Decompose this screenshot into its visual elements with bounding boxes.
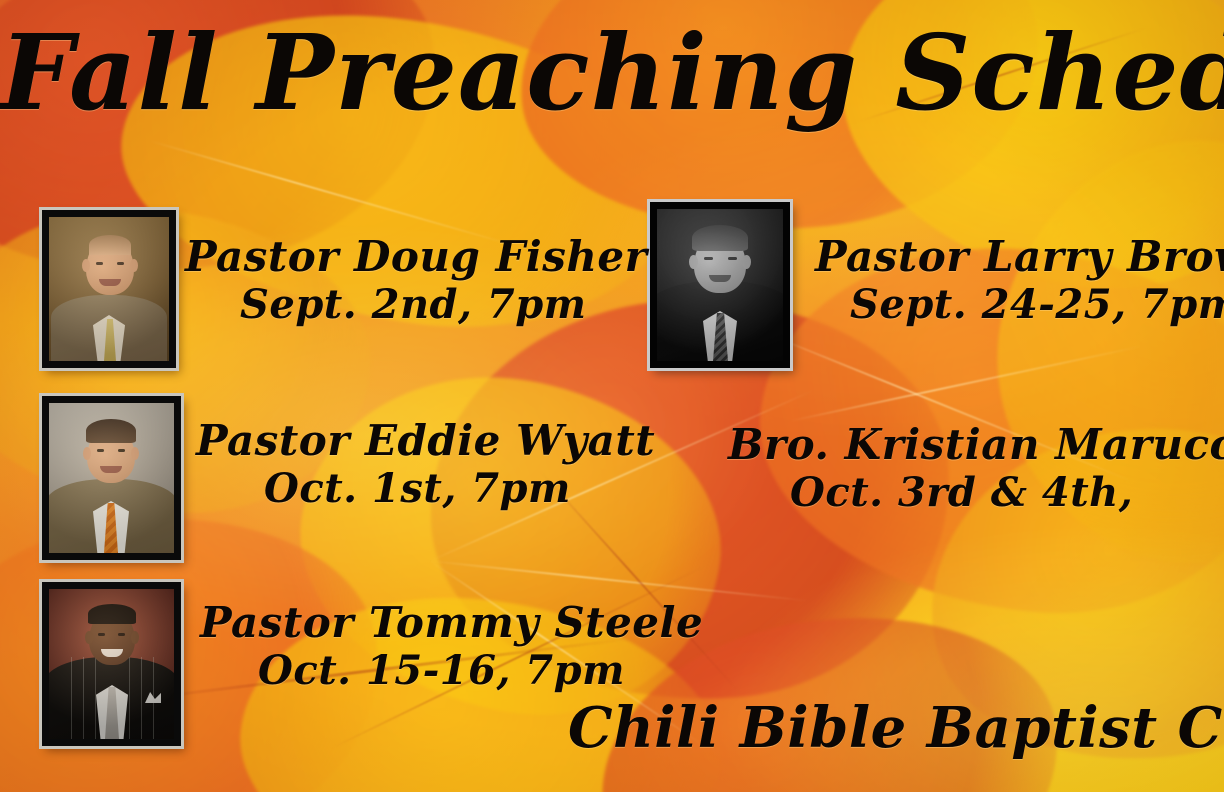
speaker-photo-eddie-wyatt bbox=[42, 396, 181, 560]
speaker-date: Oct. 1st, 7pm bbox=[264, 469, 655, 510]
fall-preaching-schedule-poster: Fall Preaching Schedule bbox=[0, 0, 1224, 792]
speaker-name: Pastor Doug Fisher bbox=[185, 236, 647, 279]
speaker-name: Pastor Tommy Steele bbox=[200, 602, 703, 645]
church-name: Chili Bible Baptist Church bbox=[568, 700, 1224, 756]
speaker-date: Sept. 24-25, 7pm bbox=[850, 285, 1224, 326]
entry-eddie-wyatt: Pastor Eddie Wyatt Oct. 1st, 7pm bbox=[196, 420, 655, 510]
speaker-photo-tommy-steele bbox=[42, 582, 181, 746]
speaker-date: Oct. 3rd & 4th, bbox=[790, 473, 1224, 514]
entry-larry-brown: Pastor Larry Brown Sept. 24-25, 7pm bbox=[815, 236, 1224, 326]
speaker-date: Sept. 2nd, 7pm bbox=[240, 285, 647, 326]
speaker-photo-doug-fisher bbox=[42, 210, 176, 368]
speaker-photo-larry-brown bbox=[650, 202, 790, 368]
speaker-name: Pastor Larry Brown bbox=[815, 236, 1224, 279]
entry-kristian-marucci: Bro. Kristian Marucci Oct. 3rd & 4th, bbox=[728, 424, 1224, 514]
entry-tommy-steele: Pastor Tommy Steele Oct. 15-16, 7pm bbox=[200, 602, 703, 692]
speaker-name: Pastor Eddie Wyatt bbox=[196, 420, 655, 463]
speaker-name: Bro. Kristian Marucci bbox=[728, 424, 1224, 467]
speaker-date: Oct. 15-16, 7pm bbox=[258, 651, 703, 692]
entry-doug-fisher: Pastor Doug Fisher Sept. 2nd, 7pm bbox=[185, 236, 647, 326]
page-title: Fall Preaching Schedule bbox=[0, 18, 1224, 127]
